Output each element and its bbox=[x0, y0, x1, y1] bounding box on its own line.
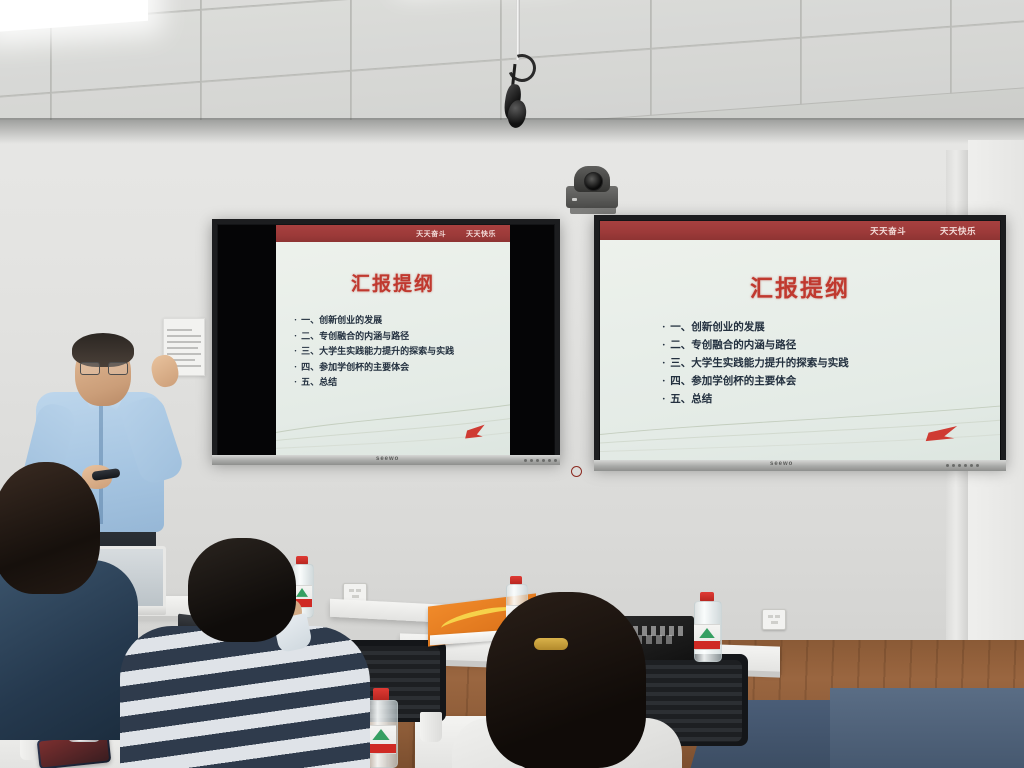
slide-bullet: 一、创新创业的发展 bbox=[294, 313, 454, 329]
left-display-screen[interactable]: 天天奋斗 天天快乐 汇报提纲 一、创新创业的发展 二、专创融合的内涵与路径 三、… bbox=[218, 225, 554, 456]
slide-bullet: 三、大学生实践能力提升的探索与实践 bbox=[294, 344, 454, 360]
slide-header-left: 天天奋斗 bbox=[870, 225, 906, 237]
glasses-icon bbox=[80, 362, 126, 373]
wall-socket[interactable] bbox=[762, 609, 786, 630]
left-display[interactable]: 天天奋斗 天天快乐 汇报提纲 一、创新创业的发展 二、专创融合的内涵与路径 三、… bbox=[212, 219, 560, 462]
right-display-screen[interactable]: 天天奋斗 天天快乐 汇报提纲 一、创新创业的发展 二、专创融合的内涵与路径 三、… bbox=[600, 221, 1000, 461]
right-display[interactable]: 天天奋斗 天天快乐 汇报提纲 一、创新创业的发展 二、专创融合的内涵与路径 三、… bbox=[594, 215, 1006, 467]
hair-tie bbox=[534, 638, 568, 650]
classroom-scene: 天天奋斗 天天快乐 汇报提纲 一、创新创业的发展 二、专创融合的内涵与路径 三、… bbox=[0, 0, 1024, 768]
slide-bullet: 四、参加学创杯的主要体会 bbox=[294, 360, 454, 376]
slide-bullet: 二、专创融合的内涵与路径 bbox=[294, 329, 454, 345]
power-button[interactable] bbox=[571, 466, 582, 477]
right-display-chrome bbox=[594, 460, 1006, 471]
slide-header-left: 天天奋斗 bbox=[416, 229, 446, 239]
water-bottle[interactable] bbox=[366, 688, 396, 768]
paper-cup[interactable] bbox=[420, 712, 442, 742]
presentation-slide: 天天奋斗 天天快乐 汇报提纲 一、创新创业的发展 二、专创融合的内涵与路径 三、… bbox=[276, 225, 510, 456]
slide-bullet: 三、大学生实践能力提升的探索与实践 bbox=[662, 355, 849, 373]
slide-title: 汇报提纲 bbox=[276, 269, 510, 296]
presentation-slide: 天天奋斗 天天快乐 汇报提纲 一、创新创业的发展 二、专创融合的内涵与路径 三、… bbox=[600, 221, 1000, 461]
right-display-brand-logo: seewo bbox=[770, 461, 793, 467]
slide-bullet: 五、总结 bbox=[294, 375, 454, 391]
slide-header-right: 天天快乐 bbox=[466, 229, 496, 239]
floor-carpet bbox=[830, 688, 1024, 768]
slide-bullet: 五、总结 bbox=[662, 391, 849, 409]
slide-bullet: 二、专创融合的内涵与路径 bbox=[662, 337, 849, 355]
slide-title: 汇报提纲 bbox=[600, 269, 1000, 303]
camera-led-icon bbox=[572, 198, 577, 201]
slide-decoration bbox=[276, 387, 510, 456]
right-display-speaker-grille bbox=[946, 464, 979, 467]
slide-bullet-list: 一、创新创业的发展 二、专创融合的内涵与路径 三、大学生实践能力提升的探索与实践… bbox=[662, 319, 849, 409]
camera-lens-icon bbox=[584, 172, 603, 191]
left-display-speaker-grille bbox=[524, 459, 557, 462]
water-bottle[interactable] bbox=[694, 592, 720, 662]
slide-header-right: 天天快乐 bbox=[940, 225, 976, 237]
left-display-brand-logo: seewo bbox=[376, 456, 399, 462]
slide-bullet: 四、参加学创杯的主要体会 bbox=[662, 373, 849, 391]
slide-bullet: 一、创新创业的发展 bbox=[662, 319, 849, 337]
slide-bullet-list: 一、创新创业的发展 二、专创融合的内涵与路径 三、大学生实践能力提升的探索与实践… bbox=[294, 313, 454, 391]
